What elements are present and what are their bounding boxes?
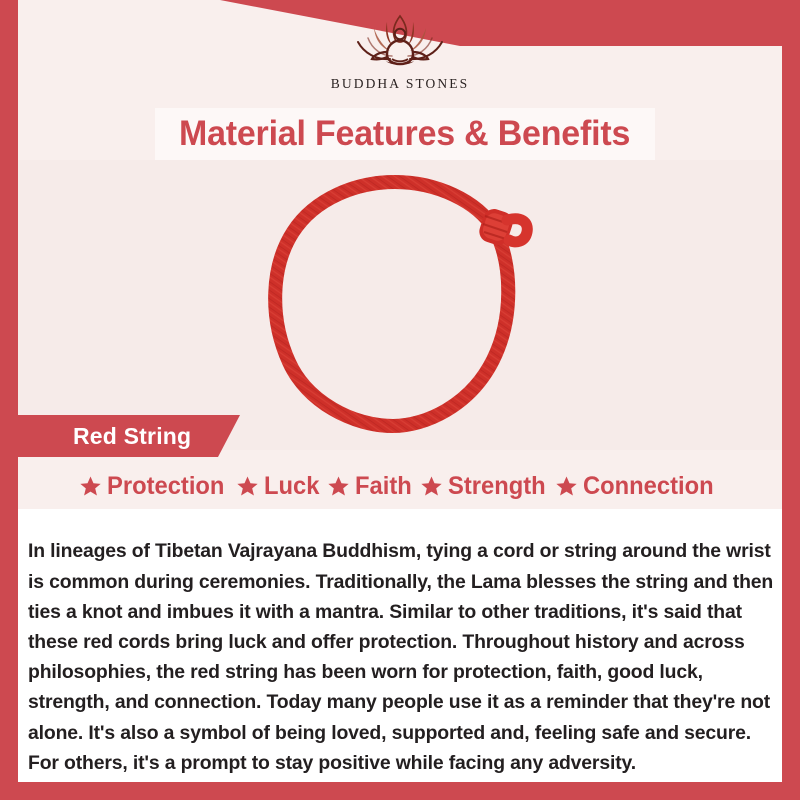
title-box: Material Features & Benefits	[155, 108, 655, 160]
red-string-braided-bracelet	[245, 170, 555, 440]
brand-name: BUDDHA STONES	[331, 76, 469, 92]
feature-item: Luck	[236, 472, 322, 501]
feature-label: Luck	[264, 472, 319, 501]
feature-label: Connection	[583, 472, 714, 501]
feature-label: Protection	[107, 472, 224, 501]
star-icon	[420, 475, 443, 498]
frame-right-band	[782, 0, 800, 800]
product-image-area	[18, 160, 782, 450]
infographic-page: BUDDHA STONES Material Features & Benefi…	[0, 0, 800, 800]
frame-left-band	[0, 0, 18, 800]
features-list: Protection Luck Faith Strength Connectio…	[18, 464, 782, 508]
feature-item: Faith	[327, 472, 415, 501]
title-banner: Material Features & Benefits	[0, 108, 800, 160]
star-icon	[79, 475, 102, 498]
feature-item: Strength	[420, 472, 551, 501]
material-name: Red String	[73, 423, 191, 450]
lotus-meditation-icon	[340, 8, 460, 74]
feature-item: Connection	[555, 472, 721, 501]
description-text: In lineages of Tibetan Vajrayana Buddhis…	[28, 536, 776, 778]
material-ribbon: Red String	[18, 415, 240, 457]
star-icon	[327, 475, 350, 498]
star-icon	[555, 475, 578, 498]
feature-item: Protection	[79, 472, 231, 501]
description-panel: In lineages of Tibetan Vajrayana Buddhis…	[18, 509, 782, 782]
frame-bottom-band	[0, 782, 800, 800]
page-title: Material Features & Benefits	[179, 114, 630, 154]
brand-logo: BUDDHA STONES	[0, 8, 800, 104]
feature-label: Faith	[355, 472, 412, 501]
star-icon	[236, 475, 259, 498]
feature-label: Strength	[448, 472, 546, 501]
